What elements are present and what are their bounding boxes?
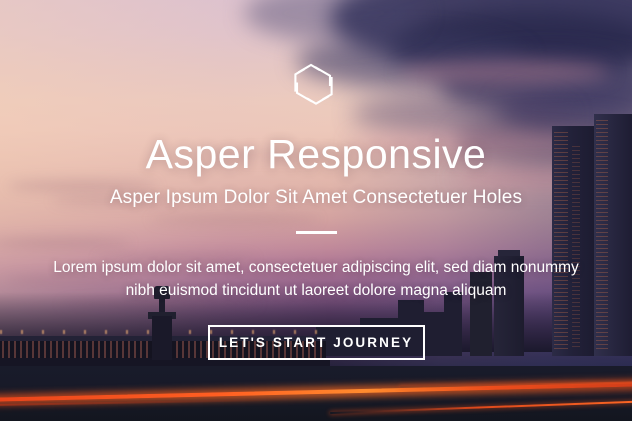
page-subtitle: Asper Ipsum Dolor Sit Amet Consectetuer … [110,187,522,209]
hero-paragraph: Lorem ipsum dolor sit amet, consectetuer… [51,257,581,303]
hexagon-logo-icon [294,63,338,107]
page-title: Asper Responsive [146,134,487,175]
start-journey-button[interactable]: LET'S START JOURNEY [208,325,425,360]
hero-section: Asper Responsive Asper Ipsum Dolor Sit A… [0,0,632,421]
title-divider [296,231,337,234]
hero-content: Asper Responsive Asper Ipsum Dolor Sit A… [0,0,632,421]
